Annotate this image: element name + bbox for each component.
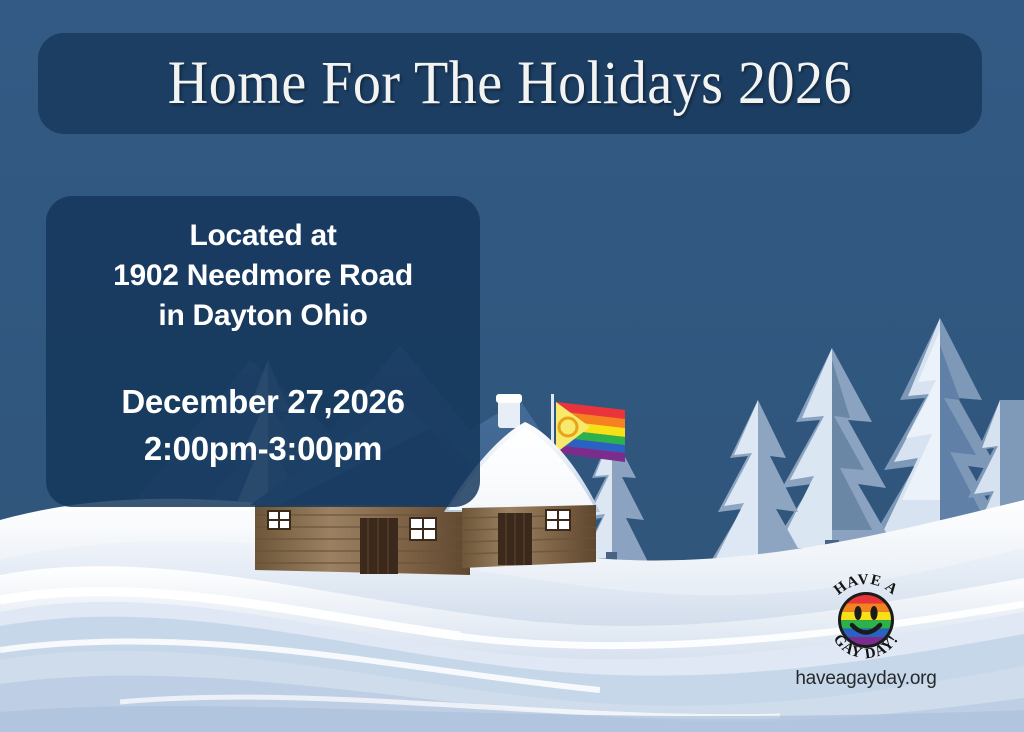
title-banner: Home For The Holidays 2026 bbox=[38, 33, 982, 134]
event-date: December 27,2026 bbox=[46, 378, 480, 425]
holiday-event-poster: Home For The Holidays 2026 Located at 19… bbox=[0, 0, 1024, 732]
location-label: Located at bbox=[46, 216, 480, 256]
website-url[interactable]: haveagayday.org bbox=[786, 668, 946, 690]
event-time: 2:00pm-3:00pm bbox=[46, 425, 480, 472]
event-details-panel: Located at 1902 Needmore Road in Dayton … bbox=[46, 196, 480, 507]
location-city: in Dayton Ohio bbox=[46, 296, 480, 336]
page-title: Home For The Holidays 2026 bbox=[168, 53, 852, 114]
info-spacer bbox=[46, 336, 480, 378]
have-a-gay-day-smiley-icon: HAVE A GAY DAY! bbox=[816, 572, 916, 668]
location-street: 1902 Needmore Road bbox=[46, 256, 480, 296]
organization-logo[interactable]: HAVE A GAY DAY! haveagayday.org bbox=[786, 572, 946, 700]
